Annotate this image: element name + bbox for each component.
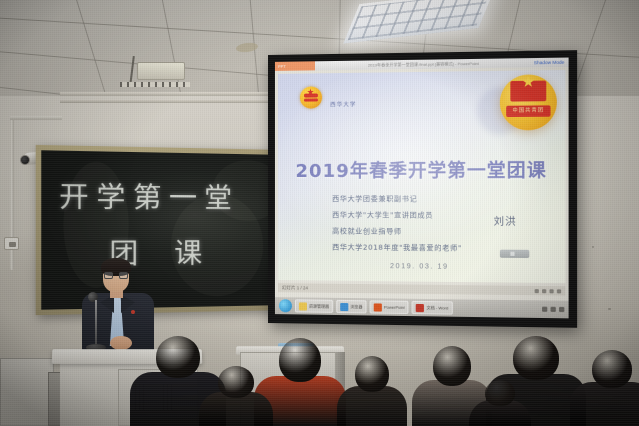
slide-bullet: 西华大学2018年度"我最喜爱的老师" xyxy=(332,242,462,253)
microphone-stem xyxy=(95,300,97,346)
word-icon xyxy=(416,303,424,311)
slide-status-bar: 幻灯片 1 / 24 xyxy=(278,283,565,295)
media-play-control[interactable] xyxy=(500,250,529,258)
system-tray[interactable] xyxy=(542,307,564,312)
student-head xyxy=(433,346,471,386)
student-torso xyxy=(337,386,407,426)
conduit-horizontal xyxy=(10,116,62,120)
student-front-left xyxy=(199,360,273,426)
slide-bullet: 高校就业创业指导师 xyxy=(332,226,462,237)
powerpoint-icon xyxy=(374,303,382,311)
student-far-right xyxy=(570,344,639,426)
student-head xyxy=(156,336,200,378)
wall-cabinet xyxy=(0,358,54,426)
light-louvers xyxy=(348,0,491,40)
slideshow-icon[interactable] xyxy=(557,289,561,293)
explorer-icon xyxy=(299,302,307,310)
slide-number-text: 幻灯片 1 / 24 xyxy=(282,285,308,291)
slide-bullet-list: 西华大学团委兼职副书记 西华大学"大学生"宣讲团成员 高校就业创业指导师 西华大… xyxy=(332,194,462,253)
taskbar-item-label: PowerPoint xyxy=(384,305,405,310)
clock-icon[interactable] xyxy=(559,307,564,312)
taskbar-item-label: 文档 - Word xyxy=(426,305,448,311)
student-front-right xyxy=(469,374,531,426)
lens-left xyxy=(104,272,113,279)
student-head xyxy=(355,356,389,392)
shadow-mode-label[interactable]: Shadow Mode xyxy=(534,60,569,66)
conduit-above-board xyxy=(60,92,275,96)
taskbar-item[interactable]: PowerPoint xyxy=(370,300,409,314)
conduit-above-board-2 xyxy=(60,100,275,103)
normal-view-icon[interactable] xyxy=(535,289,539,293)
star-icon xyxy=(307,88,314,95)
youth-league-badge-icon: 中国共青团 xyxy=(500,74,557,130)
camera-lens-icon xyxy=(20,155,30,165)
slide-bullet: 西华大学"大学生"宣讲团成员 xyxy=(332,210,462,221)
taskbar-item[interactable]: 浏览器 xyxy=(336,300,366,314)
blackboard: 开学第一堂 团课 xyxy=(36,145,288,315)
lens-right xyxy=(119,272,128,279)
projected-display: PPT 2019年春季开学第一堂团课-final.ppt [兼容模式] - Po… xyxy=(275,58,569,319)
windows-taskbar: 资源管理器 浏览器 PowerPoint 文档 - Word xyxy=(275,297,569,318)
student-head xyxy=(592,350,632,388)
slide-bullet: 西华大学团委兼职副书记 xyxy=(332,194,462,204)
browser-icon xyxy=(340,302,348,310)
blackboard-text-line1: 开学第一堂 xyxy=(59,174,239,216)
volume-icon[interactable] xyxy=(551,307,556,312)
slide: 西华大学 中国共青团 2019年春季开学第一堂团课 西华大学团委兼职副书记 西华… xyxy=(278,70,565,283)
lapel-pin-icon xyxy=(131,310,135,314)
slide-date: 2019. 03. 19 xyxy=(390,263,449,271)
view-controls[interactable] xyxy=(535,289,562,293)
sorter-view-icon[interactable] xyxy=(542,289,546,293)
taskbar-item-label: 资源管理器 xyxy=(309,303,329,309)
ceiling-light-panel xyxy=(343,0,495,44)
eyeglasses-icon xyxy=(104,272,128,279)
student-head xyxy=(218,366,254,398)
presenter-hands xyxy=(110,336,132,350)
badge-banner-text: 中国共青团 xyxy=(506,105,550,117)
student-head xyxy=(485,380,515,406)
student-torso xyxy=(570,382,639,426)
junction-box-icon xyxy=(137,62,185,80)
reading-view-icon[interactable] xyxy=(549,289,553,293)
start-button-icon[interactable] xyxy=(279,299,292,312)
classroom-photo-scene: 开学第一堂 团课 PPT 2019年春季开学第一堂团课-final.ppt [兼… xyxy=(0,0,639,426)
wall-outlet-icon xyxy=(4,237,19,250)
blackboard-surface: 开学第一堂 团课 xyxy=(41,150,283,309)
student-dark-hair-mid xyxy=(337,350,407,426)
university-name: 西华大学 xyxy=(330,100,356,108)
slide-speaker-name: 刘洪 xyxy=(494,213,517,228)
youth-league-emblem-icon xyxy=(300,86,322,108)
taskbar-item-label: 浏览器 xyxy=(350,304,362,310)
taskbar-item[interactable]: 文档 - Word xyxy=(412,301,452,315)
slide-title: 2019年春季开学第一堂团课 xyxy=(295,156,546,183)
slide-canvas: 西华大学 中国共青团 2019年春季开学第一堂团课 西华大学团委兼职副书记 西华… xyxy=(275,67,569,319)
projection-screen: PPT 2019年春季开学第一堂团课-final.ppt [兼容模式] - Po… xyxy=(268,50,577,328)
cable-tray xyxy=(120,82,190,87)
network-icon[interactable] xyxy=(542,307,547,312)
taskbar-item[interactable]: 资源管理器 xyxy=(295,299,333,313)
student-head xyxy=(279,338,321,382)
